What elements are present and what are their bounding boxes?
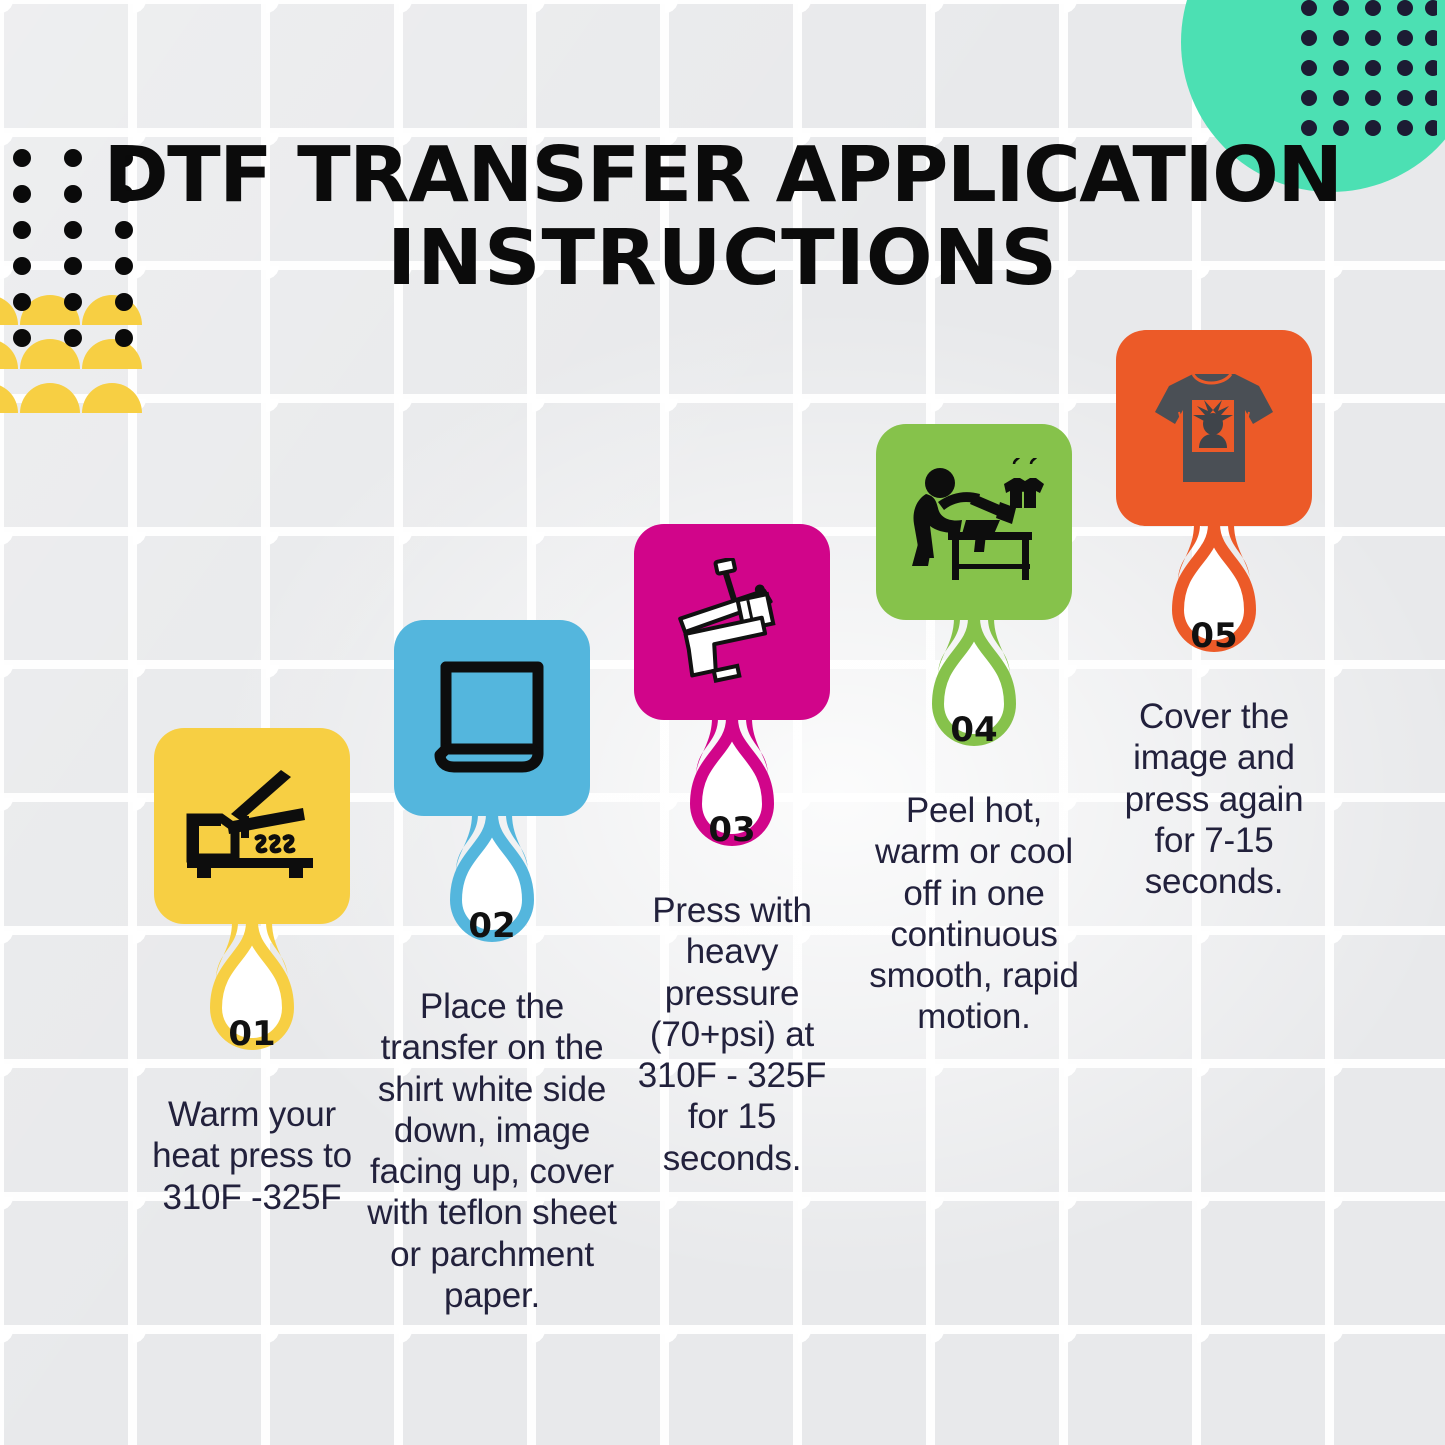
step-04-connector: 04	[876, 618, 1072, 782]
step-item-05[interactable]: 05 Cover the image and press again for 7…	[1068, 330, 1360, 902]
peeling-worker-icon	[904, 458, 1044, 586]
step-05-connector: 05	[1116, 524, 1312, 688]
transfer-sheet-icon	[432, 659, 552, 777]
step-01-number: 01	[154, 1014, 350, 1054]
step-04-icon-card	[876, 424, 1072, 620]
step-03-icon-card	[634, 524, 830, 720]
heat-press-open-icon	[185, 766, 319, 886]
printed-tshirt-icon	[1149, 368, 1279, 488]
step-03-number: 03	[634, 810, 830, 850]
step-02-icon-card	[394, 620, 590, 816]
step-04-number: 04	[876, 710, 1072, 750]
step-05-caption: Cover the image and press again for 7-15…	[1114, 696, 1314, 902]
step-01-icon-card	[154, 728, 350, 924]
page-title: DTF TRANSFER APPLICATION INSTRUCTIONS	[0, 138, 1445, 297]
page-title-line-1: DTF TRANSFER APPLICATION	[0, 138, 1445, 213]
step-01-caption: Warm your heat press to 310F -325F	[134, 1094, 370, 1218]
step-03-caption: Press with heavy pressure (70+psi) at 31…	[620, 890, 844, 1179]
step-02-number: 02	[394, 906, 590, 946]
step-05-number: 05	[1116, 616, 1312, 656]
heat-press-machine-icon	[666, 558, 798, 686]
step-01-connector: 01	[154, 922, 350, 1086]
step-05-icon-card	[1116, 330, 1312, 526]
page-title-line-2: INSTRUCTIONS	[0, 221, 1445, 296]
step-03-connector: 03	[634, 718, 830, 882]
step-04-caption: Peel hot, warm or cool off in one contin…	[868, 790, 1080, 1038]
step-02-connector: 02	[394, 814, 590, 978]
